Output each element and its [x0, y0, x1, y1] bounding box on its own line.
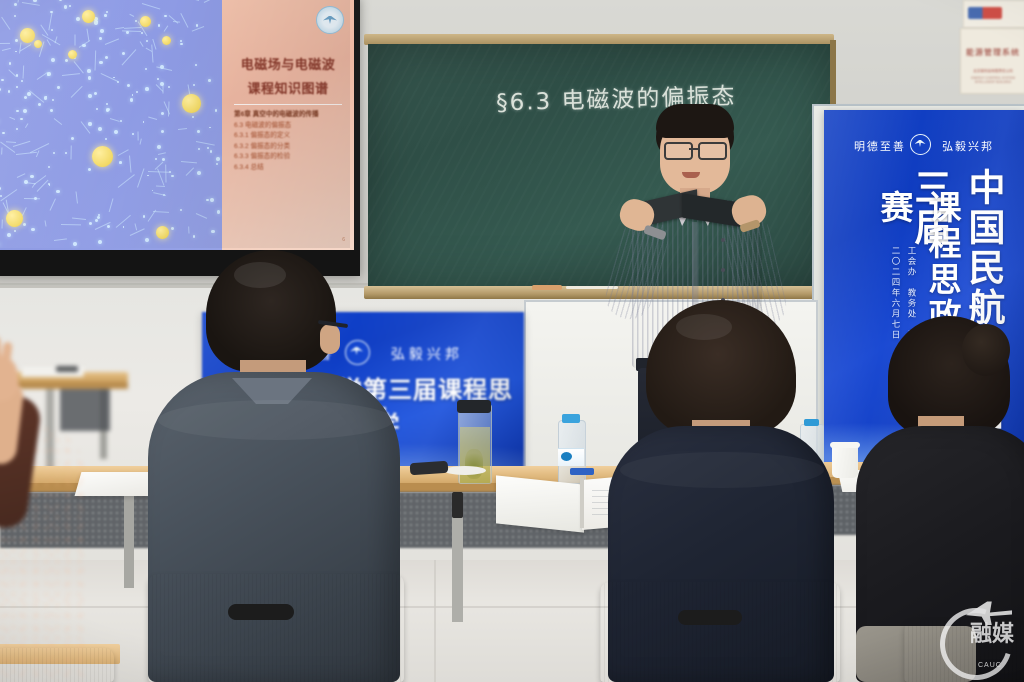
eraser: [532, 285, 562, 290]
chair-front-center: [600, 582, 840, 682]
screenshot-root: 电磁场与电磁波 课程知识图谱 第6章 真空中的电磁波的传播 6.3 电磁波的偏振…: [0, 0, 1024, 682]
chair-front-left: [148, 574, 404, 682]
watermark-cauc-text: CAUC: [978, 662, 1002, 669]
hair-highlight: [676, 314, 732, 340]
screen-glare: [0, 0, 350, 248]
shoulder-highlight: [620, 452, 824, 488]
hair-highlight: [234, 262, 286, 288]
table-leg: [124, 492, 134, 588]
energy-management-sign: 能源管理系统 北京某科技有限责任公司 ENERGY CONTROL SYSTEM…: [960, 28, 1024, 94]
wall-logo-plate: [963, 0, 1024, 28]
notebook-spine: [580, 478, 584, 528]
blue-marker: [570, 468, 594, 475]
shirt-button: [721, 268, 725, 272]
energy-sign-subtitle: 北京某科技有限责任公司: [961, 69, 1024, 74]
person-raising-hand: [0, 360, 116, 682]
notebook-left-page: [496, 475, 584, 532]
bottle-cap-icon: [562, 414, 580, 423]
energy-sign-title: 能源管理系统: [961, 47, 1024, 58]
finger: [1, 342, 12, 364]
floor-tile-line: [434, 560, 436, 682]
projected-slide: 电磁场与电磁波 课程知识图谱 第6章 真空中的电磁波的传播 6.3 电磁波的偏振…: [0, 0, 354, 250]
glasses-bridge: [689, 148, 698, 150]
ear: [320, 324, 340, 354]
cauc-media-watermark: 融媒 CAUC: [936, 596, 1020, 680]
presenter-hair-front: [656, 104, 734, 138]
shoulder-highlight: [158, 400, 394, 440]
glasses-icon: [664, 142, 693, 160]
energy-sign-subtitle-en: ENERGY CONTROL SYSTEM INTELLIGENT BUILDI…: [961, 76, 1024, 84]
table-leg-cap: [452, 492, 463, 518]
bottle-label: [558, 448, 584, 466]
company-logo-icon: [968, 7, 1002, 19]
chair-handle-slot: [678, 610, 742, 625]
thermos-lid: [457, 400, 491, 413]
glasses-icon: [698, 142, 727, 160]
chair-side-left: [0, 648, 114, 682]
small-plate: [444, 466, 486, 475]
chair-handle-slot: [228, 604, 294, 620]
hair-bun: [962, 324, 1010, 376]
watermark-chinese-text: 融媒: [970, 624, 1014, 644]
